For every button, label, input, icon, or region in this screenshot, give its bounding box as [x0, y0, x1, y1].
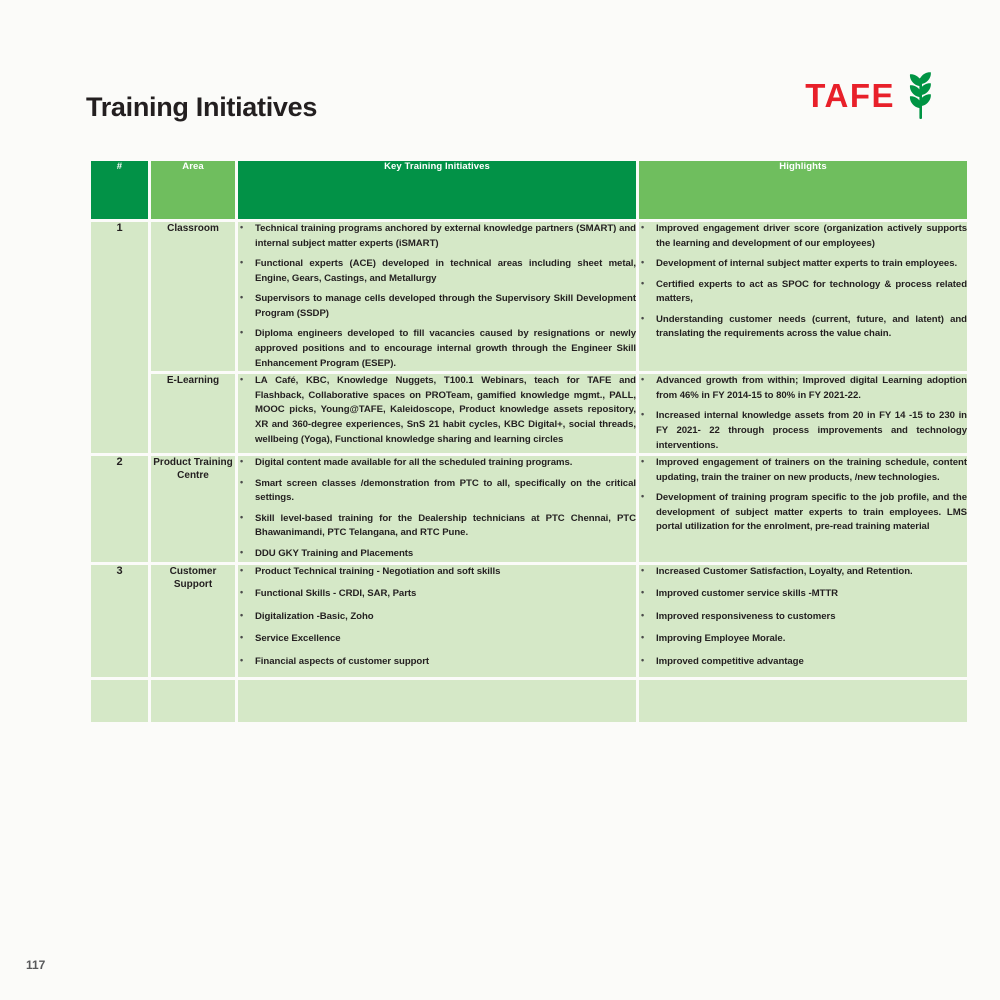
list-item: Service Excellence [238, 632, 636, 647]
filler-cell [151, 680, 235, 722]
list-item: Technical training programs anchored by … [238, 222, 636, 251]
row-initiatives-customer-support: Product Technical training - Negotiation… [238, 565, 636, 678]
list-item: Improved competitive advantage [639, 655, 967, 670]
row-initiatives-product-training-centre: Digital content made available for all t… [238, 456, 636, 561]
list-item: Improved responsiveness to customers [639, 610, 967, 625]
list-item: Certified experts to act as SPOC for tec… [639, 278, 967, 307]
row-highlights-customer-support: Increased Customer Satisfaction, Loyalty… [639, 565, 967, 678]
row-area-classroom: Classroom [151, 222, 235, 371]
list-item: Improved engagement driver score (organi… [639, 222, 967, 251]
bullet-list: Advanced growth from within; Improved di… [639, 374, 967, 453]
page-number: 117 [26, 958, 45, 972]
table-filler-row [91, 680, 967, 722]
row-area-elearning: E-Learning [151, 374, 235, 453]
bullet-list: LA Café, KBC, Knowledge Nuggets, T100.1 … [238, 374, 636, 447]
training-initiatives-table: # Area Key Training Initiatives Highligh… [88, 158, 970, 725]
list-item: Increased Customer Satisfaction, Loyalty… [639, 565, 967, 580]
table-row: 1 Classroom Technical training programs … [91, 222, 967, 371]
list-item: Increased internal knowledge assets from… [639, 409, 967, 453]
filler-cell [238, 680, 636, 722]
list-item: Improved customer service skills -MTTR [639, 587, 967, 602]
bullet-list: Product Technical training - Negotiation… [238, 565, 636, 670]
list-item: LA Café, KBC, Knowledge Nuggets, T100.1 … [238, 374, 636, 447]
row-number-3: 3 [91, 565, 148, 678]
table-row: 3 Customer Support Product Technical tra… [91, 565, 967, 678]
list-item: Functional Skills - CRDI, SAR, Parts [238, 587, 636, 602]
column-header-number: # [91, 161, 148, 219]
tafe-logo: TAFE [805, 72, 938, 120]
row-number-1: 1 [91, 222, 148, 453]
list-item: Advanced growth from within; Improved di… [639, 374, 967, 403]
list-item: DDU GKY Training and Placements [238, 547, 636, 562]
list-item: Functional experts (ACE) developed in te… [238, 257, 636, 286]
wheat-sheaf-icon [904, 72, 938, 120]
column-header-highlights: Highlights [639, 161, 967, 219]
list-item: Development of internal subject matter e… [639, 257, 967, 272]
row-highlights-elearning: Advanced growth from within; Improved di… [639, 374, 967, 453]
list-item: Development of training program specific… [639, 491, 967, 535]
list-item: Diploma engineers developed to fill vaca… [238, 327, 636, 371]
list-item: Skill level-based training for the Deale… [238, 512, 636, 541]
list-item: Supervisors to manage cells developed th… [238, 292, 636, 321]
tafe-logo-text: TAFE [805, 77, 895, 115]
table-header-row: # Area Key Training Initiatives Highligh… [91, 161, 967, 219]
list-item: Improving Employee Morale. [639, 632, 967, 647]
list-item: Improved engagement of trainers on the t… [639, 456, 967, 485]
row-initiatives-classroom: Technical training programs anchored by … [238, 222, 636, 371]
row-highlights-product-training-centre: Improved engagement of trainers on the t… [639, 456, 967, 561]
bullet-list: Improved engagement of trainers on the t… [639, 456, 967, 535]
column-header-area: Area [151, 161, 235, 219]
list-item: Product Technical training - Negotiation… [238, 565, 636, 580]
list-item: Understanding customer needs (current, f… [639, 313, 967, 342]
list-item: Financial aspects of customer support [238, 655, 636, 670]
page-title: Training Initiatives [86, 92, 317, 123]
bullet-list: Technical training programs anchored by … [238, 222, 636, 371]
bullet-list: Digital content made available for all t… [238, 456, 636, 561]
row-initiatives-elearning: LA Café, KBC, Knowledge Nuggets, T100.1 … [238, 374, 636, 453]
list-item: Digital content made available for all t… [238, 456, 636, 471]
table-row: E-Learning LA Café, KBC, Knowledge Nugge… [91, 374, 967, 453]
bullet-list: Improved engagement driver score (organi… [639, 222, 967, 342]
list-item: Digitalization -Basic, Zoho [238, 610, 636, 625]
row-area-product-training-centre: Product Training Centre [151, 456, 235, 561]
row-area-customer-support: Customer Support [151, 565, 235, 678]
column-header-initiatives: Key Training Initiatives [238, 161, 636, 219]
bullet-list: Increased Customer Satisfaction, Loyalty… [639, 565, 967, 670]
list-item: Smart screen classes /demonstration from… [238, 477, 636, 506]
row-number-2: 2 [91, 456, 148, 561]
filler-cell [639, 680, 967, 722]
row-highlights-classroom: Improved engagement driver score (organi… [639, 222, 967, 371]
table-row: 2 Product Training Centre Digital conten… [91, 456, 967, 561]
filler-cell [91, 680, 148, 722]
document-page: Training Initiatives TAFE # Area Key Tra… [0, 0, 1000, 1000]
